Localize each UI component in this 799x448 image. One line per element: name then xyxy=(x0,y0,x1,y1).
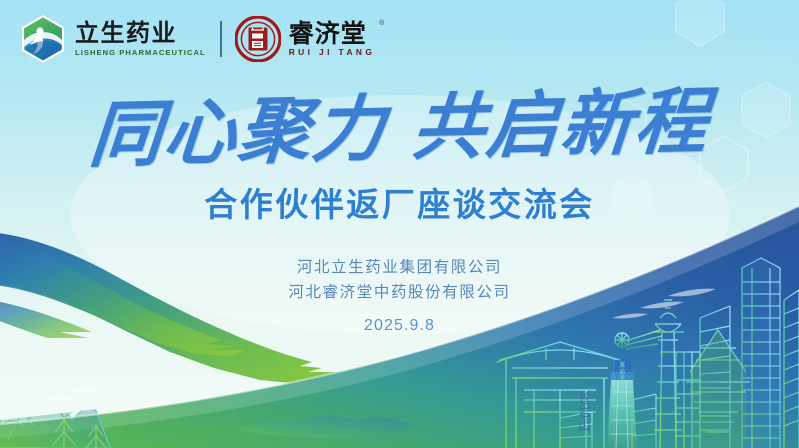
organization-names: 河北立生药业集团有限公司 河北睿济堂中药股份有限公司 xyxy=(0,255,799,305)
page-subtitle: 合作伙伴返厂座谈交流会 xyxy=(0,188,799,221)
headline-part-left: 同心聚力 xyxy=(86,85,390,177)
background-decoration-layer xyxy=(0,0,799,448)
page-title: 同心聚力共启新程 xyxy=(0,83,799,173)
poster-canvas: 立生药业 LISHENG PHARMACEUTICAL ® xyxy=(0,0,799,448)
logo-ruijitang-name-en: RUI JI TANG xyxy=(289,48,376,56)
logo-ruijitang-name-cn: 睿济堂 xyxy=(289,21,376,47)
logo-lisheng-name-en: LISHENG PHARMACEUTICAL xyxy=(75,49,206,57)
circular-seal-icon xyxy=(235,16,281,62)
logo-lisheng: 立生药业 LISHENG PHARMACEUTICAL xyxy=(20,14,206,64)
logo-lisheng-name-cn: 立生药业 xyxy=(75,21,206,47)
organization-name-1: 河北立生药业集团有限公司 xyxy=(0,255,799,280)
logo-bar: 立生药业 LISHENG PHARMACEUTICAL ® xyxy=(20,14,375,64)
logo-ruijitang: ® 睿济堂 RUI JI TANG xyxy=(235,16,376,62)
headline-part-right: 共启新程 xyxy=(409,78,713,170)
hexagon-leaf-logo-icon xyxy=(20,14,66,64)
event-date: 2025.9.8 xyxy=(0,317,799,335)
registered-mark-icon: ® xyxy=(379,20,384,27)
organization-name-2: 河北睿济堂中药股份有限公司 xyxy=(0,280,799,305)
logo-divider xyxy=(220,21,222,57)
